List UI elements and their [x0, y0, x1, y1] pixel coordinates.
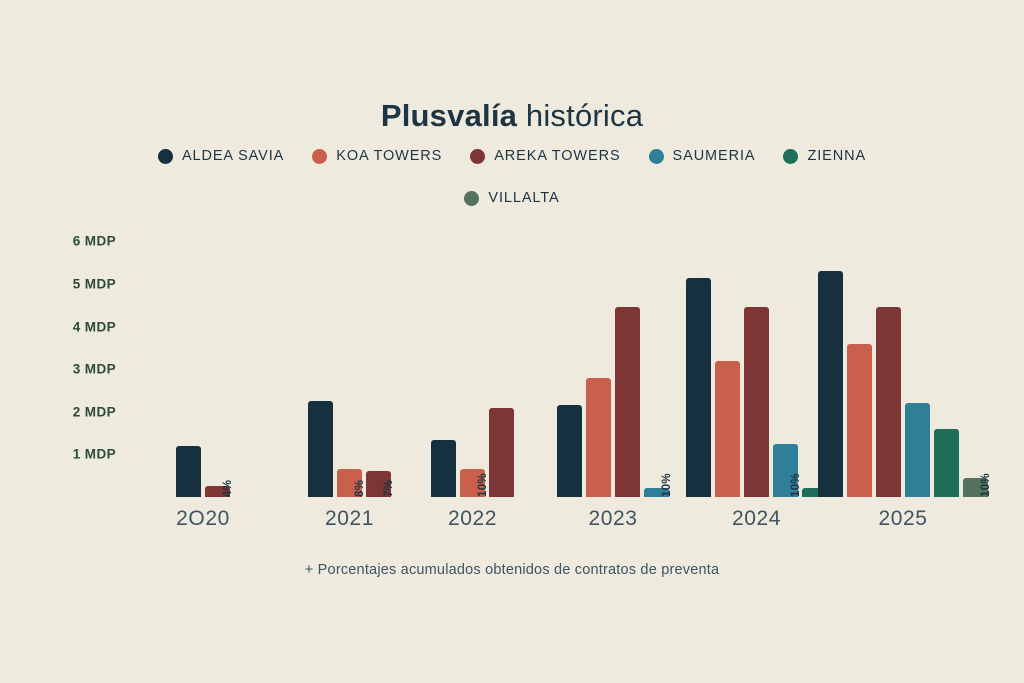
- bar-slot: [686, 278, 711, 497]
- bar-slot: 7%: [366, 471, 391, 497]
- bar-slot: [586, 378, 611, 497]
- chart-footnote: + Porcentajes acumulados obtenidos de co…: [0, 562, 1024, 578]
- bar-slot: 10%: [773, 444, 798, 497]
- bar-slot: [615, 307, 640, 497]
- bar-zienna-2025[interactable]: [934, 429, 959, 497]
- bar-slot: 8%: [337, 469, 362, 497]
- y-axis-tick-label: 3 MDP: [73, 362, 116, 377]
- bar-slot: 4%: [205, 486, 230, 497]
- bar-saumeria-2024[interactable]: 10%: [773, 444, 798, 497]
- y-axis-tick-label: 6 MDP: [73, 234, 116, 249]
- bar-koa-towers-2022[interactable]: 10%: [460, 469, 485, 497]
- bar-areka-towers-2023[interactable]: [615, 307, 640, 497]
- bar-areka-towers-2022[interactable]: [489, 408, 514, 497]
- bar-aldea-savia-2022[interactable]: [431, 440, 456, 498]
- bar-villalta-2025[interactable]: 10%: [963, 478, 988, 497]
- bar-percent-label: 8%: [354, 480, 366, 497]
- bar-areka-towers-2021[interactable]: 7%: [366, 471, 391, 497]
- x-axis-tick-label-2O20: 2O20: [176, 507, 230, 531]
- y-axis: 1 MDP2 MDP3 MDP4 MDP5 MDP6 MDP: [0, 0, 116, 683]
- y-axis-tick-label: 5 MDP: [73, 277, 116, 292]
- bar-areka-towers-2024[interactable]: [744, 307, 769, 497]
- bar-aldea-savia-2O20[interactable]: [176, 446, 201, 497]
- bar-slot: 10%: [460, 469, 485, 497]
- bar-slot: 10%: [963, 478, 988, 497]
- x-axis-tick-label-2023: 2023: [557, 507, 669, 531]
- chart-container: Plusvalía histórica ALDEA SAVIAKOA TOWER…: [0, 0, 1024, 683]
- x-axis-tick-label-2022: 2022: [431, 507, 514, 531]
- bar-slot: [847, 344, 872, 497]
- bar-slot: [715, 361, 740, 497]
- bar-percent-label: 7%: [383, 480, 395, 497]
- x-axis-tick-label-2021: 2021: [308, 507, 391, 531]
- bar-slot: [818, 271, 843, 497]
- bar-aldea-savia-2025[interactable]: [818, 271, 843, 497]
- x-axis-tick-label-2024: 2024: [686, 507, 827, 531]
- bar-areka-towers-2025[interactable]: [876, 307, 901, 497]
- bar-group-2022: 10%: [431, 408, 518, 497]
- bar-percent-label: 10%: [790, 473, 802, 497]
- bar-koa-towers-2023[interactable]: [586, 378, 611, 497]
- bar-slot: [876, 307, 901, 497]
- bar-slot: [308, 401, 333, 497]
- bar-aldea-savia-2024[interactable]: [686, 278, 711, 497]
- bar-slot: [557, 405, 582, 497]
- bar-percent-label: 10%: [661, 473, 673, 497]
- y-axis-tick-label: 2 MDP: [73, 404, 116, 419]
- plot-area: 1 MDP2 MDP3 MDP4 MDP5 MDP6 MDP 4%2O208%7…: [0, 0, 1024, 683]
- bar-percent-label: 10%: [980, 473, 992, 497]
- bar-group-2025: 10%: [818, 271, 992, 497]
- bar-aldea-savia-2023[interactable]: [557, 405, 582, 497]
- x-axis-tick-label-2025: 2025: [818, 507, 988, 531]
- bar-saumeria-2025[interactable]: [905, 403, 930, 497]
- bar-slot: [744, 307, 769, 497]
- bar-slot: 10%: [644, 488, 669, 497]
- bar-slot: [431, 440, 456, 498]
- bar-koa-towers-2025[interactable]: [847, 344, 872, 497]
- bar-slot: [489, 408, 514, 497]
- bar-koa-towers-2021[interactable]: 8%: [337, 469, 362, 497]
- bar-group-2021: 8%7%: [308, 401, 395, 497]
- bar-percent-label: 4%: [222, 480, 234, 497]
- bar-areka-towers-2O20[interactable]: 4%: [205, 486, 230, 497]
- bar-group-2023: 10%: [557, 307, 673, 497]
- bar-percent-label: 10%: [477, 473, 489, 497]
- bar-group-2O20: 4%: [176, 446, 234, 497]
- bar-slot: [905, 403, 930, 497]
- bar-group-2024: 10%10%: [686, 278, 831, 497]
- y-axis-tick-label: 1 MDP: [73, 447, 116, 462]
- bar-saumeria-2023[interactable]: 10%: [644, 488, 669, 497]
- bar-slot: [176, 446, 201, 497]
- bar-koa-towers-2024[interactable]: [715, 361, 740, 497]
- bar-slot: [934, 429, 959, 497]
- bar-aldea-savia-2021[interactable]: [308, 401, 333, 497]
- y-axis-tick-label: 4 MDP: [73, 319, 116, 334]
